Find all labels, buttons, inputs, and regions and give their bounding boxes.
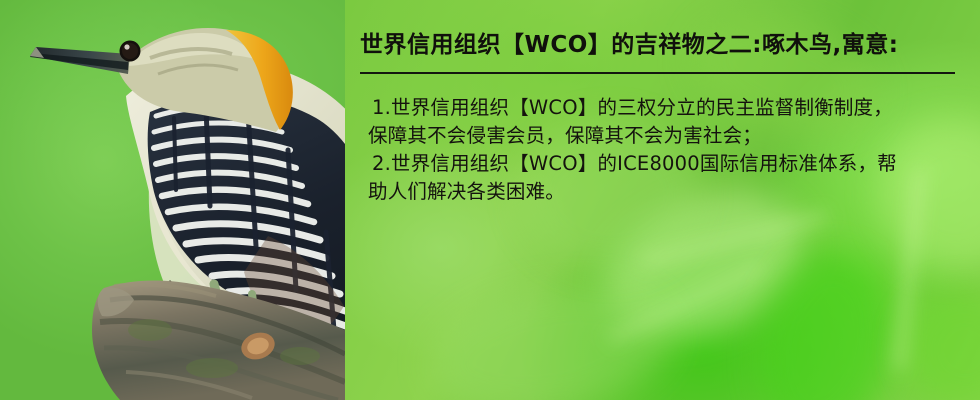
list-item-line: 保障其不会侵害会员，保障其不会为害社会；: [355, 122, 975, 150]
list-item-line: 2.世界信用组织【WCO】的ICE8000国际信用标准体系，帮: [355, 152, 897, 175]
bird-eye: [120, 41, 141, 62]
woodpecker-photo: [0, 0, 400, 400]
list-item-line: 助人们解决各类困难。: [355, 178, 975, 206]
list-item: 1.世界信用组织【WCO】的三权分立的民主监督制衡制度， 保障其不会侵害会员，保…: [355, 94, 975, 150]
mascot-meaning-list: 1.世界信用组织【WCO】的三权分立的民主监督制衡制度， 保障其不会侵害会员，保…: [355, 94, 975, 206]
woodpecker-illustration: [0, 0, 400, 400]
list-item-line: 1.世界信用组织【WCO】的三权分立的民主监督制衡制度，: [355, 96, 893, 119]
banner-text-column: 世界信用组织【WCO】的吉祥物之二:啄木鸟,寓意: 1.世界信用组织【WCO】的…: [355, 0, 980, 400]
wco-mascot-banner: 世界信用组织【WCO】的吉祥物之二:啄木鸟,寓意: 1.世界信用组织【WCO】的…: [0, 0, 980, 400]
page-title: 世界信用组织【WCO】的吉祥物之二:啄木鸟,寓意:: [360, 33, 960, 58]
bird-beak: [30, 47, 130, 74]
list-item: 2.世界信用组织【WCO】的ICE8000国际信用标准体系，帮 助人们解决各类困…: [355, 150, 975, 206]
title-divider: [360, 72, 955, 74]
